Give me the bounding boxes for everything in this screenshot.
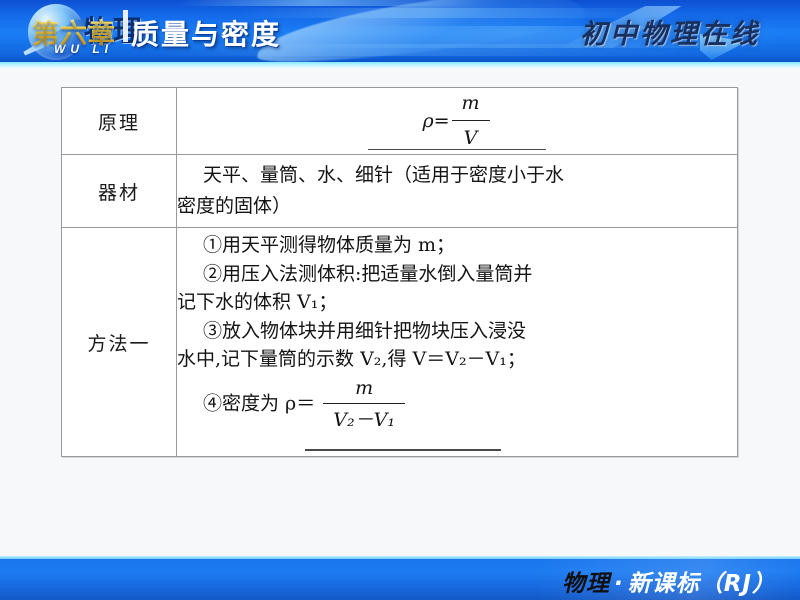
equipment-line: 密度的固体） bbox=[177, 191, 737, 222]
row-content-principle: ρ= m V bbox=[177, 88, 738, 155]
table-row: 器材 天平、量筒、水、细针（适用于密度小于水 密度的固体） bbox=[62, 155, 738, 228]
fraction: m V bbox=[452, 88, 490, 154]
header-banner: 物理 WU LI 第六章 质量与密度 初中物理在线 bbox=[0, 0, 800, 68]
fraction: m V₂－V₁ bbox=[323, 374, 405, 435]
brand-watermark: 初中物理在线 bbox=[580, 12, 760, 51]
equipment-line: 天平、量筒、水、细针（适用于密度小于水 bbox=[177, 160, 737, 191]
principle-formula: ρ= m V bbox=[177, 88, 737, 154]
footer-subject: 物理 bbox=[562, 571, 610, 597]
jet-artwork bbox=[253, 0, 587, 68]
method-final-formula: ④密度为 ρ＝ m V₂－V₁ bbox=[177, 374, 737, 453]
final-formula-prefix: ④密度为 ρ＝ bbox=[203, 392, 315, 414]
experiment-spec-table: 原理 ρ= m V 器材 天平、量筒、水、细针（适用于密度小于水 bbox=[61, 87, 738, 457]
table-row: 方法一 ①用天平测得物体质量为 m； ②用压入法测体积:把适量水倒入量筒并 记下… bbox=[62, 228, 738, 457]
method-step: ①用天平测得物体质量为 m； bbox=[177, 231, 737, 260]
method-step: ②用压入法测体积:把适量水倒入量筒并 bbox=[177, 260, 737, 289]
chapter-number: 第六章 bbox=[32, 12, 116, 51]
row-content-method-one: ①用天平测得物体质量为 m； ②用压入法测体积:把适量水倒入量筒并 记下水的体积… bbox=[177, 228, 738, 457]
footer-edition: 新课标（RJ） bbox=[628, 571, 776, 597]
footer-separator: · bbox=[614, 571, 624, 597]
row-label-method-one: 方法一 bbox=[62, 228, 177, 457]
method-step: 记下水的体积 V₁； bbox=[177, 288, 737, 317]
answer-underline bbox=[305, 449, 501, 451]
formula-lhs: ρ= bbox=[422, 106, 449, 137]
logo-divider bbox=[123, 10, 128, 42]
answer-underline bbox=[368, 149, 546, 151]
table-row: 原理 ρ= m V bbox=[62, 88, 738, 155]
page-title: 质量与密度 bbox=[131, 13, 281, 53]
row-label-equipment: 器材 bbox=[62, 155, 177, 228]
row-content-equipment: 天平、量筒、水、细针（适用于密度小于水 密度的固体） bbox=[177, 155, 738, 228]
method-step: ③放入物体块并用细针把物块压入浸没 bbox=[177, 317, 737, 346]
footer-credit: 物理·新课标（RJ） bbox=[562, 564, 776, 598]
fraction-denominator: V₂－V₁ bbox=[323, 404, 405, 435]
fraction-numerator: m bbox=[323, 374, 405, 405]
slide-body: 原理 ρ= m V 器材 天平、量筒、水、细针（适用于密度小于水 bbox=[0, 68, 800, 556]
method-step: 水中,记下量筒的示数 V₂,得 V＝V₂－V₁； bbox=[177, 345, 737, 374]
footer-bar: 物理·新课标（RJ） bbox=[0, 556, 800, 600]
row-label-principle: 原理 bbox=[62, 88, 177, 155]
fraction-numerator: m bbox=[452, 88, 490, 121]
